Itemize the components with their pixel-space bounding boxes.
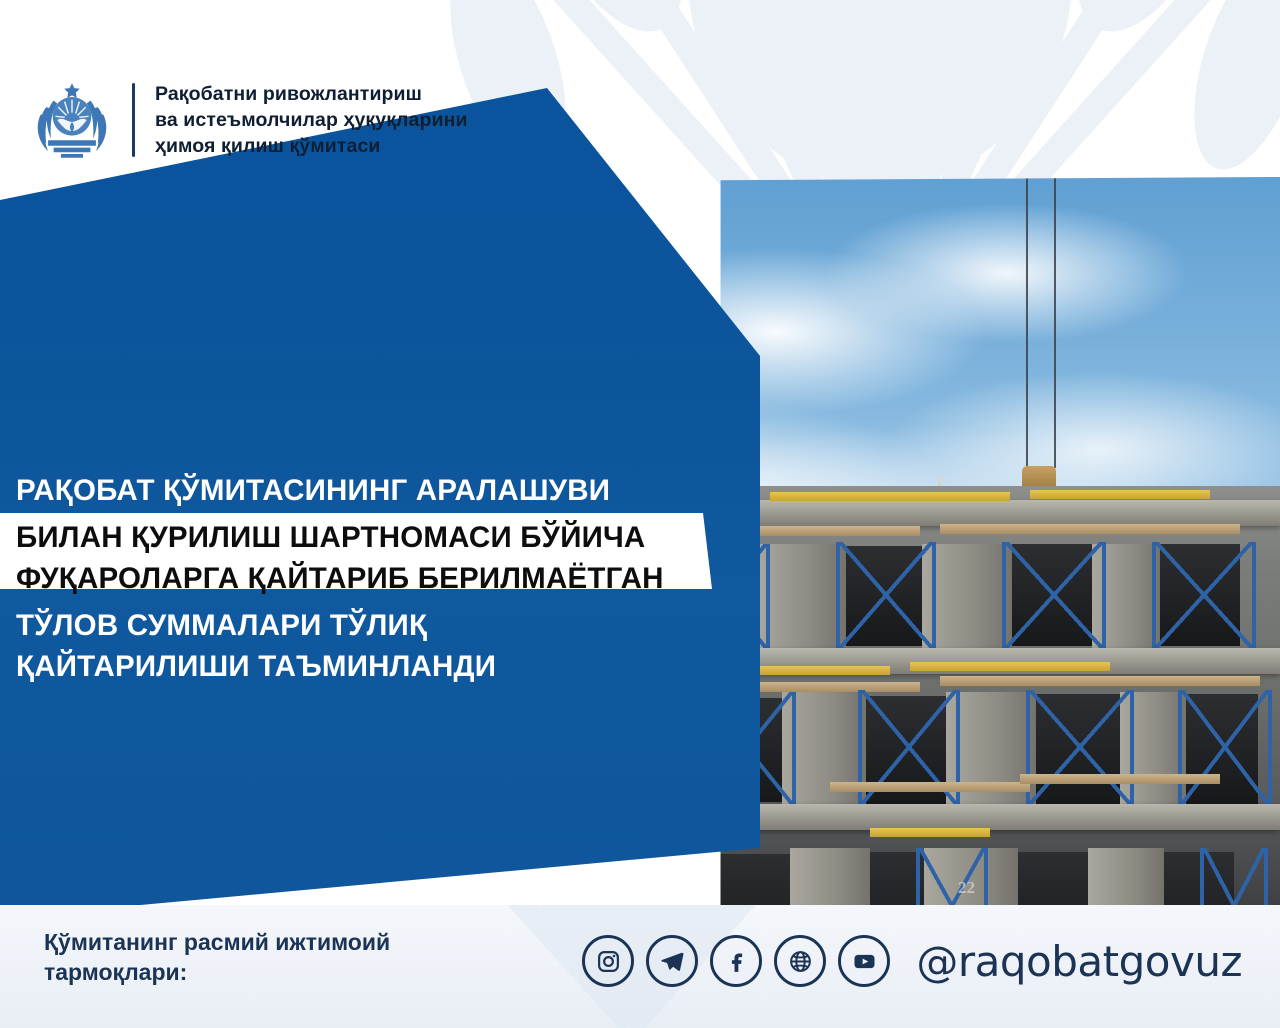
scaffolding [1026, 690, 1134, 804]
headline-line-5: ҚАЙТАРИЛИШИ ТАЪМИНЛАНДИ [0, 646, 760, 687]
scaffolding [916, 848, 988, 906]
facebook-icon[interactable] [710, 935, 762, 987]
poster-canvas: 22 [0, 0, 1280, 1028]
yellow-formwork-beam [1030, 490, 1210, 499]
footer-social-bar: Қўмитанинг расмий ижтимоий тармоқлари: [0, 905, 1280, 1028]
concrete-column [790, 848, 870, 906]
wood-plank [1020, 774, 1220, 784]
headline-white-box: БИЛАН ҚУРИЛИШ ШАРТНОМАСИ БЎЙИЧА ФУҚАРОЛА… [0, 513, 760, 603]
yellow-formwork-beam [910, 662, 1110, 671]
header-divider [132, 83, 135, 157]
headline-line-4: ТЎЛОВ СУММАЛАРИ ТЎЛИҚ [0, 605, 760, 646]
scaffolding [836, 542, 936, 648]
floor-opening [1018, 852, 1088, 906]
social-handle[interactable]: @raqobatgovuz [916, 937, 1242, 986]
uzbekistan-state-emblem [26, 74, 118, 166]
telegram-icon[interactable] [646, 935, 698, 987]
youtube-icon[interactable] [838, 935, 890, 987]
headline-line-1: РАҚОБАТ ҚЎМИТАСИНИНГ АРАЛАШУВИ [0, 470, 760, 511]
social-icons-row: @raqobatgovuz [582, 935, 1242, 987]
organization-name: Рақобатни ривожлантириш ва истеъмолчилар… [155, 81, 468, 159]
scaffolding [1152, 542, 1256, 648]
wood-plank [830, 782, 1030, 792]
social-networks-label: Қўмитанинг расмий ижтимоий тармоқлари: [44, 927, 390, 988]
brand-header: Рақобатни ривожлантириш ва истеъмолчилар… [26, 74, 468, 166]
wood-plank [940, 676, 1260, 686]
yellow-formwork-beam [870, 828, 990, 837]
crane-cable-left [1026, 170, 1028, 470]
wood-plank [940, 524, 1240, 534]
scaffolding [1200, 848, 1268, 906]
floor-opening [720, 854, 790, 906]
website-globe-icon[interactable] [774, 935, 826, 987]
scaffolding [1178, 690, 1272, 804]
scaffolding [1002, 542, 1106, 648]
headline-line-2: БИЛАН ҚУРИЛИШ ШАРТНОМАСИ БЎЙИЧА [16, 517, 760, 558]
crane-cable-right [1054, 170, 1056, 468]
headline-block: РАҚОБАТ ҚЎМИТАСИНИНГ АРАЛАШУВИ БИЛАН ҚУР… [0, 470, 760, 687]
yellow-formwork-beam [770, 492, 1010, 501]
headline-line-3: ФУҚАРОЛАРГА ҚАЙТАРИБ БЕРИЛМАЁТГАН [16, 558, 760, 599]
door-number: 22 [958, 878, 975, 898]
instagram-icon[interactable] [582, 935, 634, 987]
concrete-column [1088, 848, 1164, 906]
